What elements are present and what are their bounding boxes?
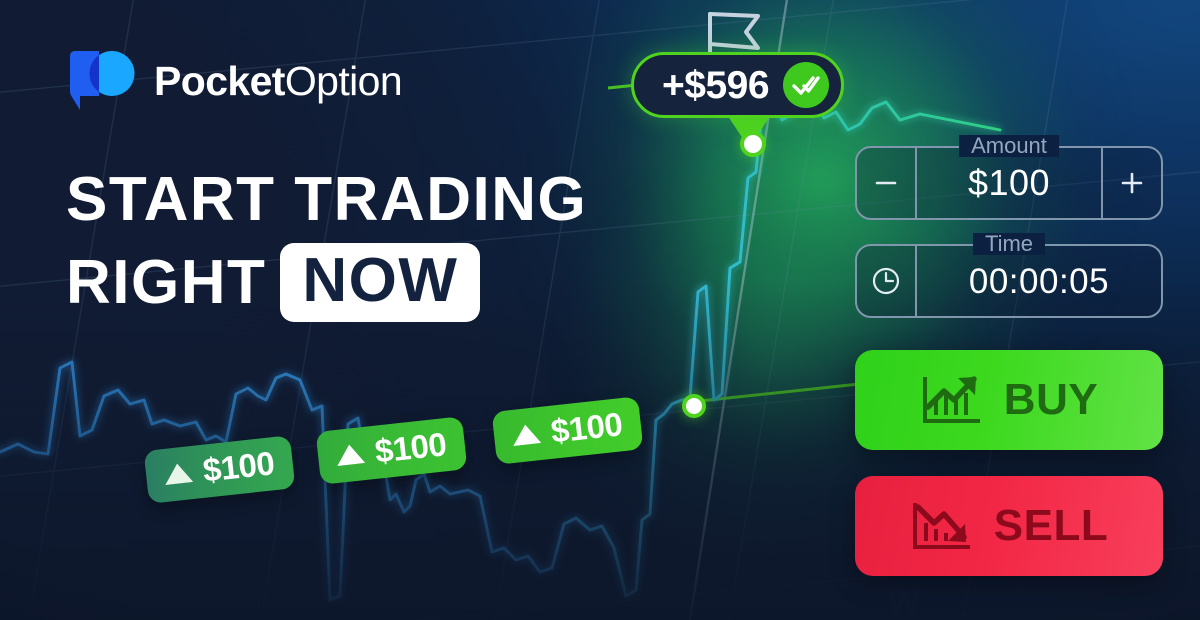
headline-line-2: RIGHT NOW: [66, 243, 587, 322]
time-field: Time 00:00:05: [855, 244, 1163, 318]
expiry-marker: [740, 131, 766, 157]
chart-arrow-up-icon: [920, 373, 982, 427]
trade-badge-amount: $100: [201, 446, 276, 487]
double-check-icon: [783, 62, 829, 108]
headline-line-1: START TRADING: [66, 168, 587, 231]
time-value[interactable]: 00:00:05: [917, 246, 1161, 316]
trade-panel: Amount $100 Time: [855, 146, 1163, 576]
chart-arrow-down-icon: [910, 499, 972, 553]
amount-decrement-button[interactable]: [857, 148, 917, 218]
amount-value[interactable]: $100: [917, 148, 1101, 218]
clock-icon: [870, 265, 902, 297]
amount-field: Amount $100: [855, 146, 1163, 220]
brand-name: PocketOption: [154, 61, 402, 102]
time-clock-button[interactable]: [857, 246, 917, 316]
headline-highlight-now: NOW: [280, 243, 480, 322]
profit-callout: +$596: [631, 52, 844, 118]
trade-badge-amount: $100: [549, 407, 624, 448]
headline: START TRADING RIGHT NOW: [66, 168, 587, 322]
brand-name-bold: Pocket: [154, 58, 285, 104]
profit-amount: +$596: [662, 66, 769, 105]
buy-button[interactable]: BUY: [855, 350, 1163, 450]
amount-increment-button[interactable]: [1101, 148, 1161, 218]
entry-marker: [682, 394, 706, 418]
minus-icon: [873, 170, 899, 196]
sell-button[interactable]: SELL: [855, 476, 1163, 576]
headline-line-2-prefix: RIGHT: [66, 251, 266, 314]
brand-name-light: Option: [285, 58, 402, 104]
pocketoption-speech-bubble-logo: [66, 48, 136, 114]
triangle-up-icon: [162, 459, 194, 486]
time-label: Time: [973, 233, 1045, 255]
buy-label: BUY: [1004, 378, 1098, 422]
plus-icon: [1119, 170, 1145, 196]
trade-badge-amount: $100: [373, 427, 448, 468]
triangle-up-icon: [334, 440, 366, 467]
triangle-up-icon: [510, 420, 542, 447]
brand-logo[interactable]: PocketOption: [66, 48, 402, 114]
promo-banner: W PocketOption START TRADING RIGHT NOW: [0, 0, 1200, 620]
amount-label: Amount: [959, 135, 1059, 157]
sell-label: SELL: [994, 504, 1108, 548]
